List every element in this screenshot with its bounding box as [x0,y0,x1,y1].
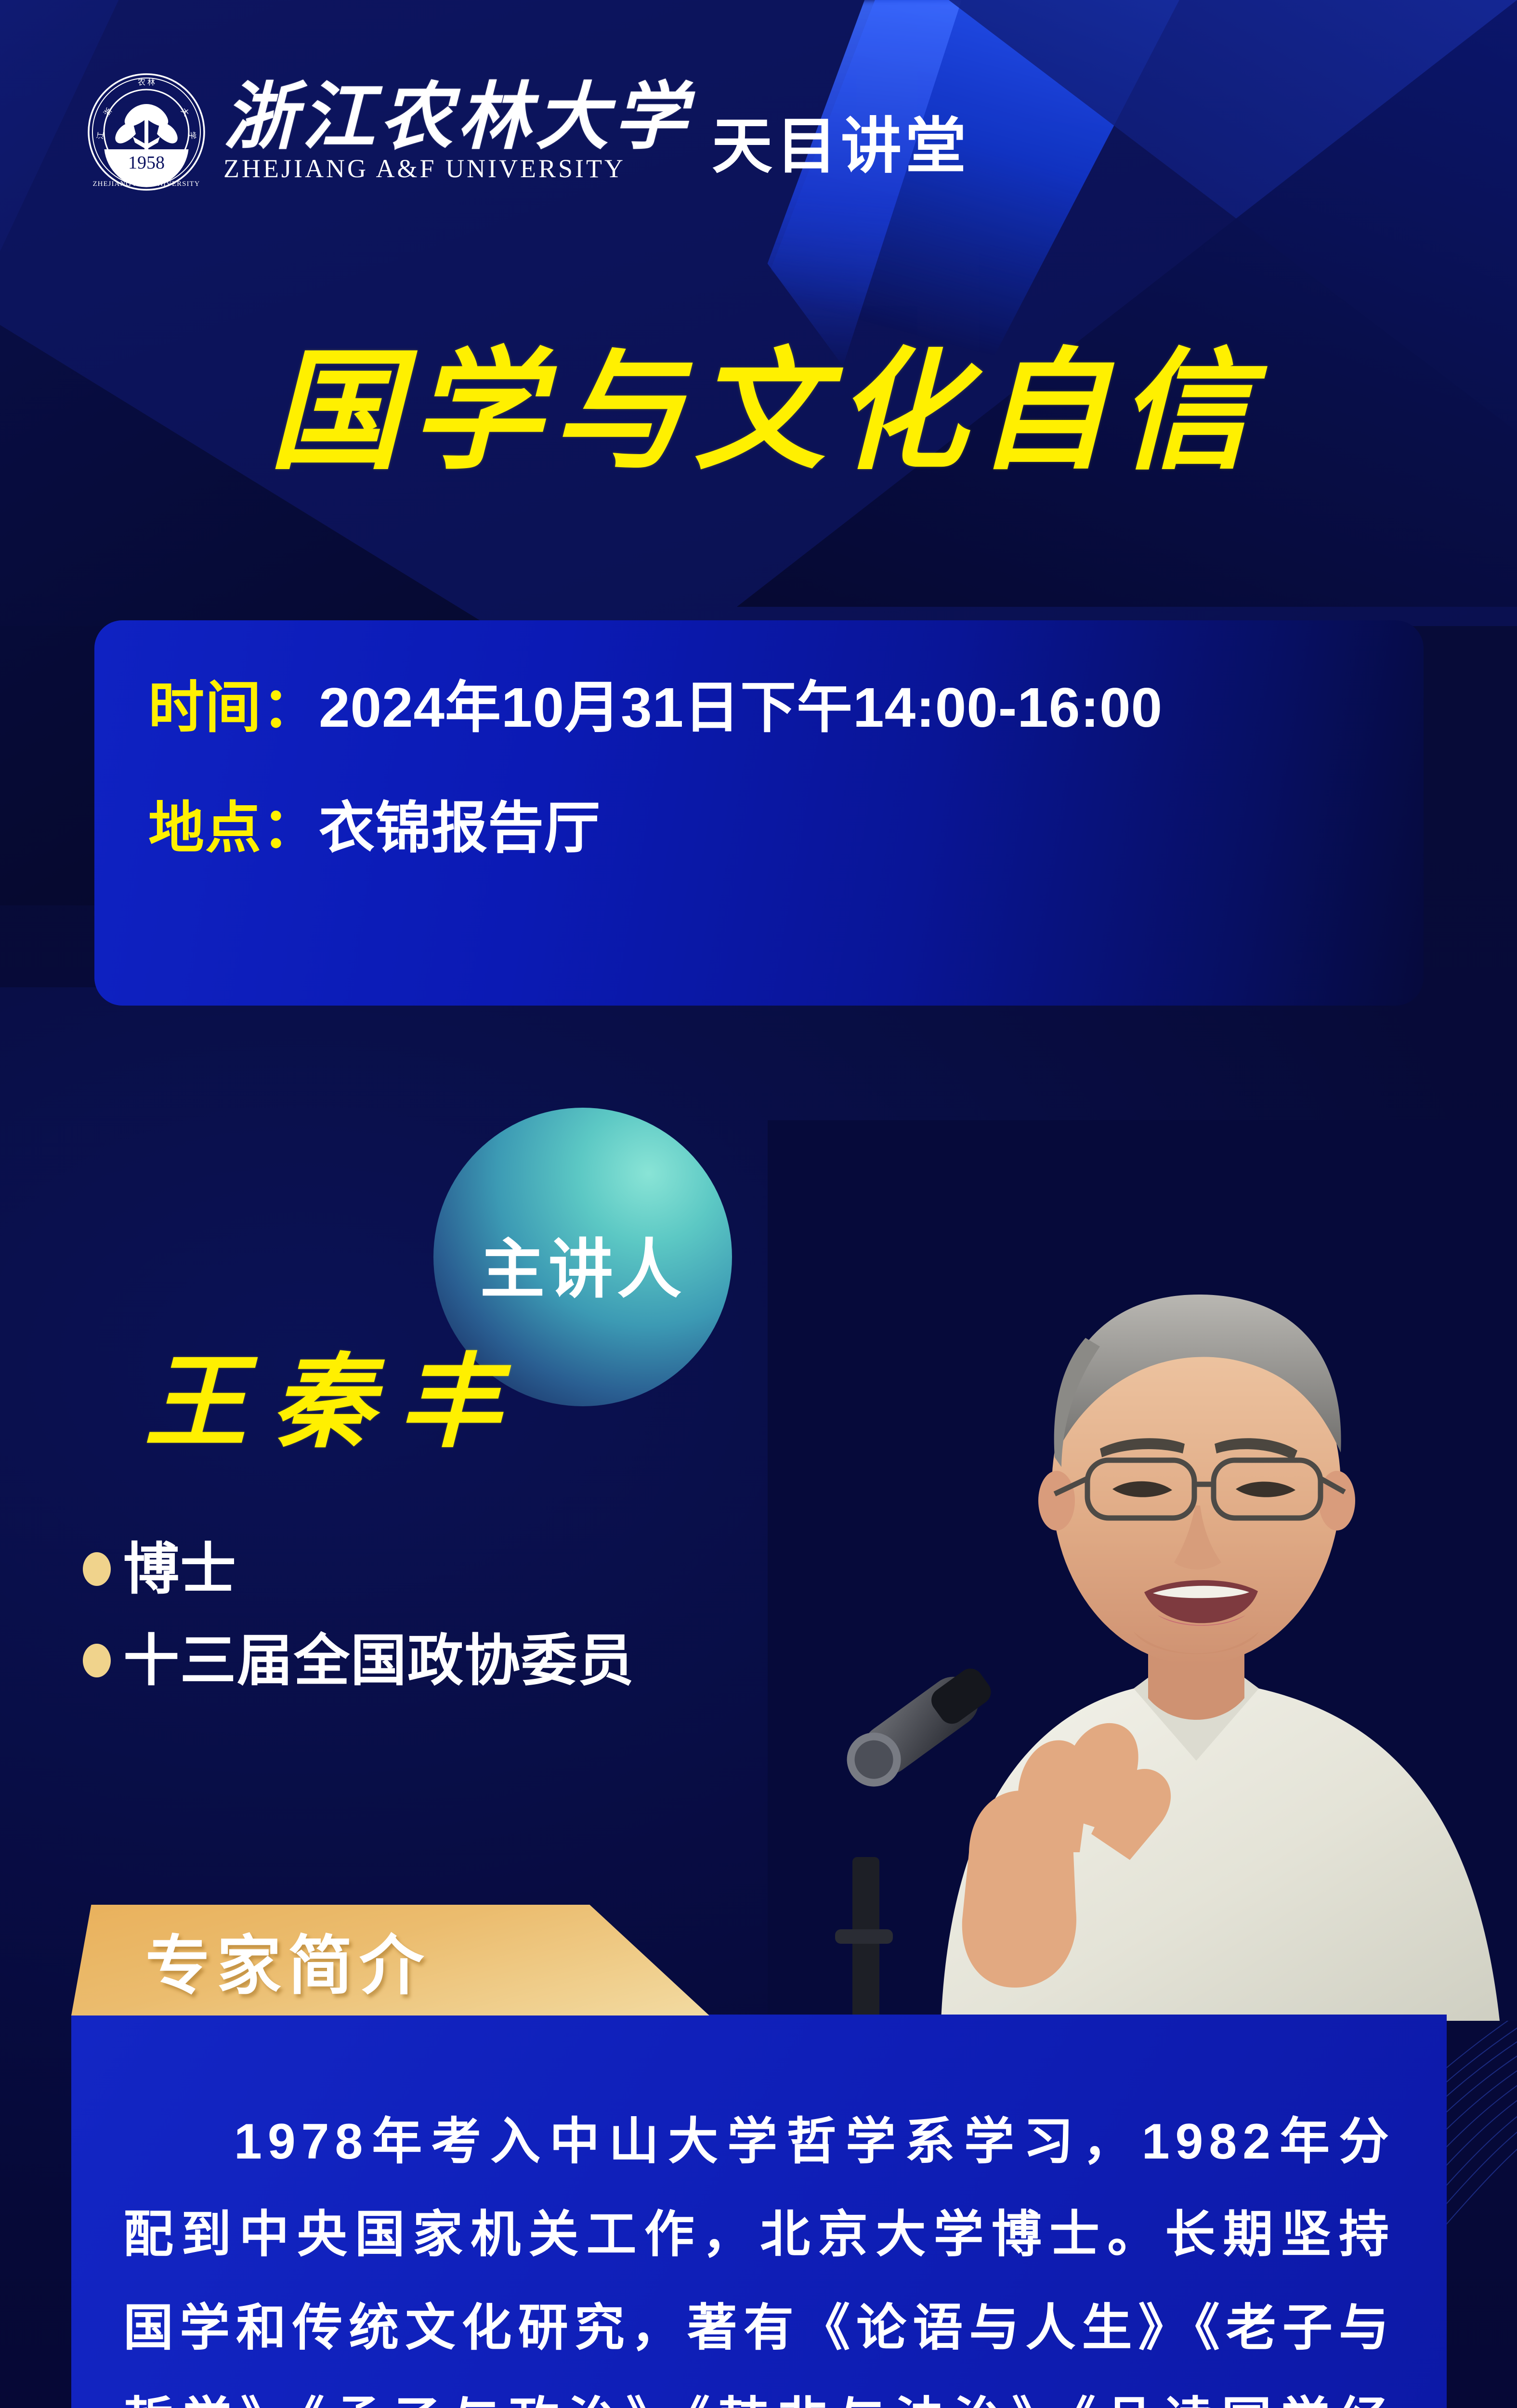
bio-section-box: 1978年考入中山大学哲学系学习，1982年分配到中央国家机关工作，北京大学博士… [71,2015,1447,2408]
svg-text:农 林: 农 林 [138,78,155,87]
list-item: 博士 [83,1541,635,1597]
bio-paragraph: 1978年考入中山大学哲学系学习，1982年分配到中央国家机关工作，北京大学博士… [123,2095,1395,2408]
seal-year-text: 1958 [128,153,165,173]
svg-text:学: 学 [187,131,197,140]
event-place-label: 地点： [148,798,319,859]
bullet-dot-icon [83,1552,111,1586]
event-time-row: 时间： 2024年10月31日下午14:00-16:00 [148,677,1424,739]
event-info-box: 时间： 2024年10月31日下午14:00-16:00 地点： 衣锦报告厅 [94,620,1424,1006]
page-title: 国学与文化自信 [0,346,1517,477]
event-time-label: 时间： [148,677,319,739]
bullet-dot-icon [83,1644,111,1677]
university-name-cn: 浙江农林大学 [223,80,692,155]
bio-section-title: 专家简介 [145,1913,431,2007]
svg-text:江: 江 [96,131,105,140]
event-place-row: 地点： 衣锦报告厅 [148,798,1424,859]
poster-header: 1958 农 林 浙 大 江 学 ZHEJIANG A&F UNIVERSITY… [87,72,970,192]
speaker-badge-label: 主讲人 [480,1217,685,1310]
event-place-value: 衣锦报告厅 [319,798,601,859]
speaker-portrait-illustration-icon [768,1120,1517,2021]
university-name-en: ZHEJIANG A&F UNIVERSITY [223,154,692,183]
lecture-series-label: 天目讲堂 [712,97,970,185]
seal-ring-english-text: ZHEJIANG A&F UNIVERSITY [93,180,200,188]
speaker-name: 王秦丰 [144,1320,526,1467]
list-item: 十三届全国政协委员 [83,1633,635,1688]
poster-root: 1958 农 林 浙 大 江 学 ZHEJIANG A&F UNIVERSITY… [0,0,1517,2408]
speaker-photo [768,1120,1517,2021]
university-wordmark: 浙江农林大学 ZHEJIANG A&F UNIVERSITY [223,80,692,183]
credential-label: 十三届全国政协委员 [123,1633,635,1688]
speaker-credentials-list: 博士 十三届全国政协委员 [83,1541,635,1724]
credential-label: 博士 [123,1541,237,1597]
university-seal-logo-icon: 1958 农 林 浙 大 江 学 ZHEJIANG A&F UNIVERSITY [87,72,206,192]
event-time-value: 2024年10月31日下午14:00-16:00 [319,677,1163,739]
